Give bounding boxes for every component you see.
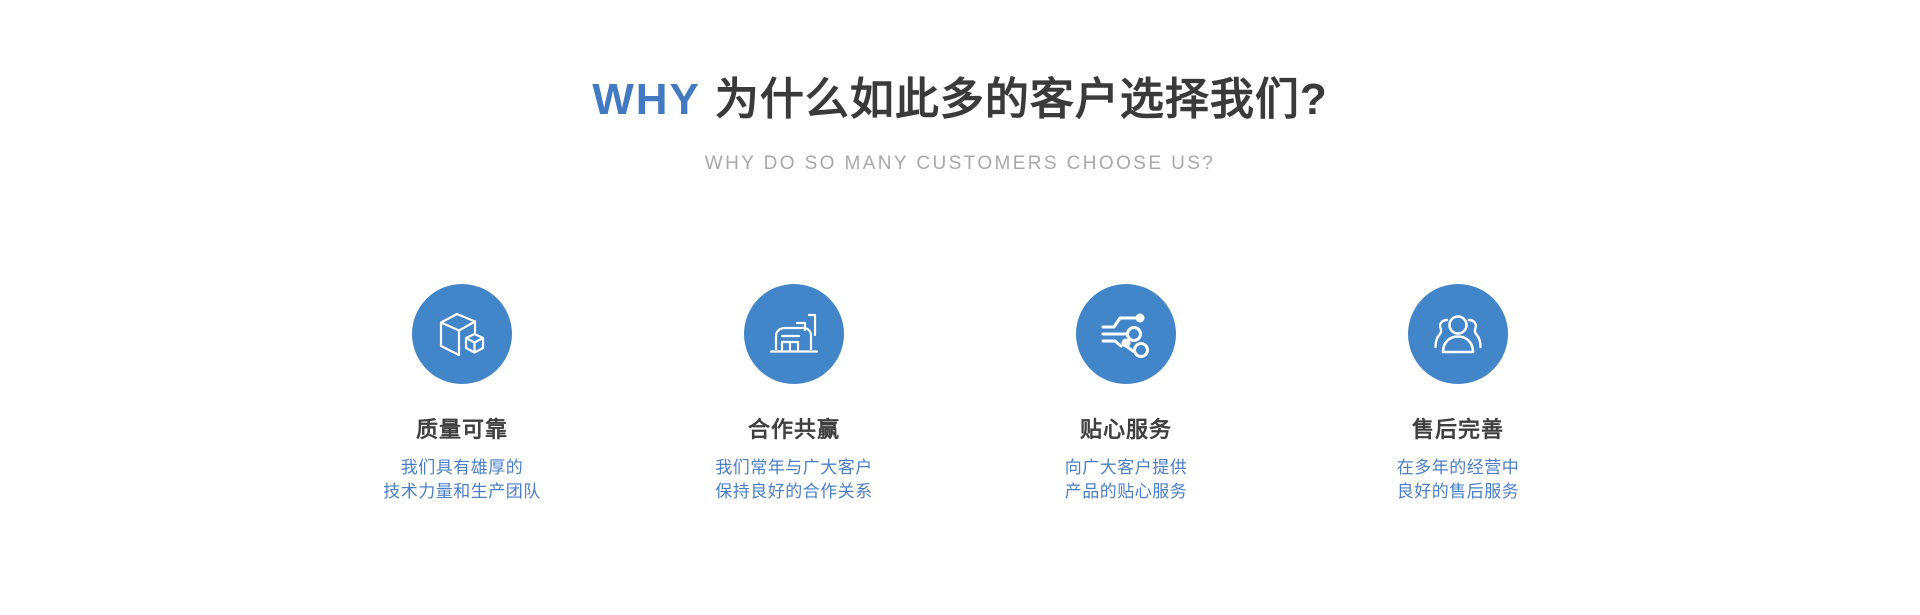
icon-circle-cooperation xyxy=(744,284,844,384)
page-subtitle: WHY DO SO MANY CUSTOMERS CHOOSE US? xyxy=(0,152,1920,176)
feature-desc-line-1: 我们具有雄厚的 xyxy=(383,456,541,480)
icon-circle-service xyxy=(1076,284,1176,384)
feature-item-aftersales[interactable]: 售后完善 在多年的经营中 良好的售后服务 xyxy=(1358,284,1558,504)
circuit-network-icon xyxy=(1097,305,1155,363)
feature-desc-line-2: 良好的售后服务 xyxy=(1397,480,1520,504)
feature-desc-line-1: 向广大客户提供 xyxy=(1065,456,1188,480)
feature-desc-line-1: 在多年的经营中 xyxy=(1397,456,1520,480)
feature-list: 质量可靠 我们具有雄厚的 技术力量和生产团队 xyxy=(0,284,1920,504)
box-cube-icon xyxy=(433,305,491,363)
title-accent-why: WHY xyxy=(592,75,701,124)
people-group-icon xyxy=(1429,305,1487,363)
why-choose-us-section: WHY为什么如此多的客户选择我们? WHY DO SO MANY CUSTOME… xyxy=(0,0,1920,615)
feature-desc-line-2: 产品的贴心服务 xyxy=(1065,480,1188,504)
icon-circle-aftersales xyxy=(1408,284,1508,384)
feature-item-quality[interactable]: 质量可靠 我们具有雄厚的 技术力量和生产团队 xyxy=(362,284,562,504)
icon-circle-quality xyxy=(412,284,512,384)
feature-title: 贴心服务 xyxy=(1080,416,1172,444)
feature-description: 向广大客户提供 产品的贴心服务 xyxy=(1065,456,1188,504)
feature-description: 在多年的经营中 良好的售后服务 xyxy=(1397,456,1520,504)
feature-desc-line-1: 我们常年与广大客户 xyxy=(715,456,873,480)
page-title: WHY为什么如此多的客户选择我们? xyxy=(0,72,1920,128)
factory-icon xyxy=(765,305,823,363)
feature-title: 合作共赢 xyxy=(748,416,840,444)
heading-block: WHY为什么如此多的客户选择我们? WHY DO SO MANY CUSTOME… xyxy=(0,0,1920,176)
feature-title: 质量可靠 xyxy=(416,416,508,444)
feature-desc-line-2: 保持良好的合作关系 xyxy=(715,480,873,504)
feature-desc-line-2: 技术力量和生产团队 xyxy=(383,480,541,504)
feature-description: 我们常年与广大客户 保持良好的合作关系 xyxy=(715,456,873,504)
feature-item-service[interactable]: 贴心服务 向广大客户提供 产品的贴心服务 xyxy=(1026,284,1226,504)
feature-item-cooperation[interactable]: 合作共赢 我们常年与广大客户 保持良好的合作关系 xyxy=(694,284,894,504)
title-chinese: 为什么如此多的客户选择我们? xyxy=(715,75,1328,124)
feature-title: 售后完善 xyxy=(1412,416,1504,444)
feature-description: 我们具有雄厚的 技术力量和生产团队 xyxy=(383,456,541,504)
